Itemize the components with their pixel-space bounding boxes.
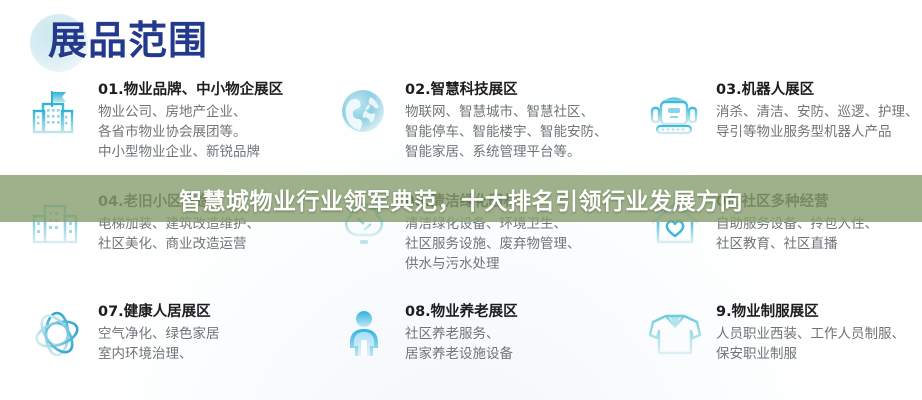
- zone-grid: 01.物业品牌、中小物企展区 物业公司、房地产企业、 各省市物业协会展团等。 中…: [0, 78, 922, 400]
- zone-item-08: 08.物业养老展区 社区养老服务、 居家养老设施设备: [333, 300, 633, 364]
- banner-headline: 智慧城物业行业领军典范，十大排名引领行业发展方向: [179, 182, 743, 216]
- zone-desc-line: 保安职业制服: [716, 344, 905, 364]
- zone-desc-line: 供水与污水处理: [405, 254, 581, 274]
- zone-title: 9.物业制服展区: [716, 302, 905, 322]
- zone-text: 02.智慧科技展区 物联网、智慧城市、智慧社区、 智能停车、智能楼宇、智能安防、…: [405, 78, 608, 162]
- zone-text: 9.物业制服展区 人员职业西装、工作人员制服、 保安职业制服: [716, 300, 905, 364]
- zone-text: 01.物业品牌、中小物企展区 物业公司、房地产企业、 各省市物业协会展团等。 中…: [98, 78, 283, 162]
- zone-desc-line: 智能停车、智能楼宇、智能安防、: [405, 122, 608, 142]
- zone-item-03: 03.机器人展区 消杀、清洁、安防、巡逻、护理、 导引等物业服务型机器人产品: [644, 78, 922, 142]
- zone-desc-line: 居家养老设施设备: [405, 344, 518, 364]
- zone-desc-line: 空气净化、绿色家居: [98, 324, 220, 344]
- zone-item-09: 9.物业制服展区 人员职业西装、工作人员制服、 保安职业制服: [644, 300, 922, 364]
- zone-item-07: 07.健康人居展区 空气净化、绿色家居 室内环境治理、: [26, 300, 322, 364]
- zone-item-02: 02.智慧科技展区 物联网、智慧城市、智慧社区、 智能停车、智能楼宇、智能安防、…: [333, 78, 633, 162]
- zone-text: 03.机器人展区 消杀、清洁、安防、巡逻、护理、 导引等物业服务型机器人产品: [716, 78, 919, 142]
- zone-desc-line: 导引等物业服务型机器人产品: [716, 122, 919, 142]
- zone-desc-line: 中小型物业企业、新锐品牌: [98, 142, 283, 162]
- exhibition-scope-poster: 展品范围: [0, 0, 922, 400]
- zone-text: 08.物业养老展区 社区养老服务、 居家养老设施设备: [405, 300, 518, 364]
- zone-desc-line: 社区教育、社区直播: [716, 234, 878, 254]
- zone-desc-line: 社区美化、商业改造运营: [98, 234, 260, 254]
- zone-desc-line: 人员职业西装、工作人员制服、: [716, 324, 905, 344]
- building-flag-icon: [26, 80, 88, 142]
- globe-icon: [333, 80, 395, 142]
- zone-title: 08.物业养老展区: [405, 302, 518, 322]
- zone-desc-line: 物业公司、房地产企业、: [98, 102, 283, 122]
- poster-header: 展品范围: [30, 12, 290, 74]
- zone-desc-line: 消杀、清洁、安防、巡逻、护理、: [716, 102, 919, 122]
- zone-desc-line: 室内环境治理、: [98, 344, 220, 364]
- zone-title: 02.智慧科技展区: [405, 80, 608, 100]
- shirt-icon: [644, 302, 706, 364]
- zone-item-01: 01.物业品牌、中小物企展区 物业公司、房地产企业、 各省市物业协会展团等。 中…: [26, 78, 322, 162]
- overlay-banner: 智慧城物业行业领军典范，十大排名引领行业发展方向: [0, 175, 922, 222]
- person-icon: [333, 302, 395, 364]
- atom-icon: [26, 302, 88, 364]
- zone-desc-line: 社区养老服务、: [405, 324, 518, 344]
- zone-title: 01.物业品牌、中小物企展区: [98, 80, 283, 100]
- zone-desc-line: 社区服务设施、废弃物管理、: [405, 234, 581, 254]
- zone-title: 03.机器人展区: [716, 80, 919, 100]
- zone-text: 07.健康人居展区 空气净化、绿色家居 室内环境治理、: [98, 300, 220, 364]
- page-title: 展品范围: [48, 18, 208, 66]
- zone-desc-line: 各省市物业协会展团等。: [98, 122, 283, 142]
- zone-desc-line: 智能家居、系统管理平台等。: [405, 142, 608, 162]
- robot-icon: [644, 80, 706, 142]
- zone-desc-line: 物联网、智慧城市、智慧社区、: [405, 102, 608, 122]
- zone-title: 07.健康人居展区: [98, 302, 220, 322]
